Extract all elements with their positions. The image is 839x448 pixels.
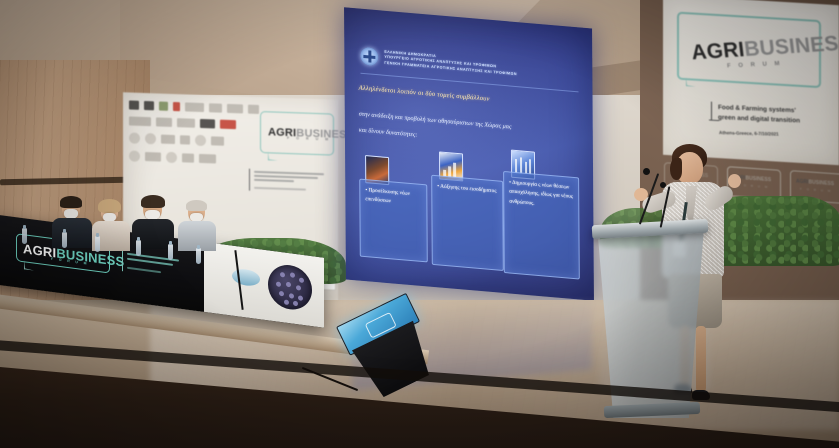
slide-box-1-text: • Προσέλκυσης νέων επενδύσεων bbox=[365, 186, 422, 209]
banner-brand-forum: F O R U M bbox=[727, 61, 783, 70]
slide-box-3-text: • Δημιουργία ς νέων θέσεων απασχόλησης, … bbox=[509, 178, 574, 211]
banner-caption: Food & Farming systems' green and digita… bbox=[711, 102, 830, 128]
slide-content-boxes: • Προσέλκυσης νέων επενδύσεων • Αύξησης … bbox=[355, 144, 588, 284]
banner-brand-business: BUSINESS bbox=[743, 31, 839, 61]
banner-date: Athens-Greece, 6-7/10/2021 bbox=[719, 130, 779, 136]
sponsor-logo-row bbox=[129, 100, 259, 114]
banner-caption-tick bbox=[709, 120, 719, 122]
greek-government-emblem-icon bbox=[360, 47, 378, 67]
banner-brand-agri: AGRI bbox=[690, 38, 746, 64]
water-bottle bbox=[22, 228, 27, 244]
water-bottle bbox=[62, 232, 67, 248]
backdrop-logo-text: AGRIBUSINESS bbox=[796, 179, 834, 188]
backdrop-logo-forum: F O R U M bbox=[737, 183, 769, 189]
speaker-leg bbox=[696, 326, 706, 392]
sponsor-logo-row bbox=[129, 150, 259, 166]
podium-microphone-head-2 bbox=[660, 182, 666, 188]
panelist-1 bbox=[52, 198, 92, 246]
slide-box-1: • Προσέλκυσης νέων επενδύσεων bbox=[359, 179, 428, 263]
water-bottle bbox=[136, 240, 141, 256]
panelist-4 bbox=[178, 202, 216, 248]
podium-microphone-head bbox=[643, 168, 650, 175]
sponsor-brand-forum: F O R U M bbox=[287, 137, 331, 142]
sponsor-logo-grid bbox=[129, 100, 259, 173]
water-bottle bbox=[95, 236, 100, 252]
slide-box-3: • Δημιουργία ς νέων θέσεων απασχόλησης, … bbox=[503, 171, 580, 280]
sponsor-logo-row bbox=[129, 116, 259, 130]
sponsor-logo-row bbox=[129, 132, 259, 148]
sponsor-wall-brand: AGRIBUSINESS F O R U M bbox=[260, 111, 332, 166]
water-bottle bbox=[168, 244, 173, 260]
speaker-hair-side bbox=[670, 158, 682, 180]
slide-box-2: • Αύξησης του εισοδήματος bbox=[431, 175, 504, 271]
projection-screen: ΕΛΛΗΝΙΚΗ ΔΗΜΟΚΡΑΤΙΑ ΥΠΟΥΡΓΕΙΟ ΑΓΡΟΤΙΚΗΣ … bbox=[344, 7, 594, 300]
banner-brand-bubble: AGRIBUSINESS F O R U M bbox=[677, 12, 817, 98]
backdrop-logo-forum: F O R U M bbox=[800, 187, 832, 193]
water-bottle bbox=[196, 248, 201, 264]
panel-table-caption bbox=[122, 249, 185, 279]
slide-box-2-text: • Αύξησης του εισοδήματος bbox=[437, 182, 498, 197]
sponsor-wall-caption bbox=[249, 169, 330, 194]
speaker-right-hand bbox=[728, 174, 741, 188]
conference-photo: AGRIBUSINESS F O R U M AGRIBUSINESS AGRI… bbox=[0, 0, 839, 448]
